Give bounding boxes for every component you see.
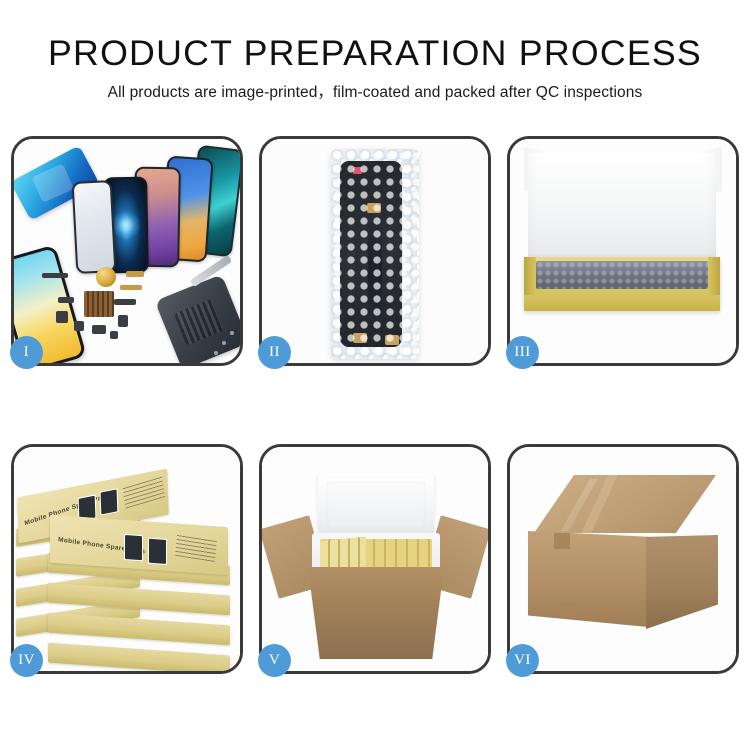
step-badge-1: I <box>10 336 43 369</box>
small-part-7 <box>110 331 118 339</box>
step-badge-2: II <box>258 336 291 369</box>
step-panel-6[interactable]: VI <box>507 444 739 674</box>
step-panel-1[interactable]: I <box>11 136 243 366</box>
box-screen-thumb-4 <box>148 538 167 565</box>
box-stack: Mobile Phone Spare Parts Mobile Phone Sp… <box>16 463 240 663</box>
page-subtitle: All products are image-printed，film-coat… <box>0 83 750 102</box>
red-label-tab <box>353 167 362 174</box>
step-image-6 <box>510 447 736 671</box>
kraft-box-r3 <box>48 613 230 646</box>
glass-protector <box>72 180 117 274</box>
step-image-4: Mobile Phone Spare Parts Mobile Phone Sp… <box>14 447 240 671</box>
step-panel-3[interactable]: III <box>507 136 739 366</box>
small-part-4 <box>92 325 106 334</box>
wrapped-contents <box>536 261 708 289</box>
header: PRODUCT PREPARATION PROCESS All products… <box>0 0 750 102</box>
carton-side-face <box>646 535 718 629</box>
chip-array-part <box>84 291 114 317</box>
box-spec-lines-2 <box>175 534 217 562</box>
small-part-3 <box>74 321 84 331</box>
speaker-part <box>42 273 68 278</box>
flex-cable-gold-2 <box>120 285 142 290</box>
taptic-engine-part <box>96 267 116 287</box>
product-process-page: PRODUCT PREPARATION PROCESS All products… <box>0 0 750 750</box>
foam-lid-open <box>318 473 434 537</box>
step-panel-2[interactable]: II <box>259 136 491 366</box>
flex-cable-strip <box>368 209 382 319</box>
bubble-wrap-bag <box>331 149 419 359</box>
step-image-3 <box>510 139 736 363</box>
connector-right <box>385 335 399 345</box>
connector-top <box>367 203 381 213</box>
box-spec-lines-1 <box>122 476 165 509</box>
screw-3 <box>214 351 218 355</box>
carton-top-face <box>534 475 716 533</box>
carton-front-face <box>528 531 648 627</box>
tray-front-wall <box>524 295 720 311</box>
carton-body-open <box>302 567 450 659</box>
step-badge-4: IV <box>10 644 43 677</box>
flex-cable-gold-1 <box>126 271 144 277</box>
carton-tab-upper <box>554 533 570 549</box>
connector-left <box>353 333 367 343</box>
step-image-5 <box>262 447 488 671</box>
carton-tab-lower <box>560 603 576 617</box>
small-part-1 <box>58 297 74 303</box>
box-screen-thumb-2 <box>100 488 119 515</box>
step-image-2 <box>262 139 488 363</box>
process-grid: I II <box>11 136 739 674</box>
step-badge-6: VI <box>506 644 539 677</box>
step-badge-3: III <box>506 336 539 369</box>
screw-1 <box>222 341 226 345</box>
foam-lid <box>528 153 716 265</box>
step-badge-5: V <box>258 644 291 677</box>
step-panel-4[interactable]: Mobile Phone Spare Parts Mobile Phone Sp… <box>11 444 243 674</box>
box-screen-thumb-3 <box>124 534 143 561</box>
screw-2 <box>230 331 234 335</box>
page-title: PRODUCT PREPARATION PROCESS <box>0 34 750 74</box>
small-part-6 <box>118 315 128 327</box>
step-panel-5[interactable]: V <box>259 444 491 674</box>
small-part-2 <box>56 311 68 323</box>
kraft-tray-box <box>524 257 720 311</box>
sealed-carton <box>528 475 722 627</box>
step-image-1 <box>14 139 240 363</box>
small-part-5 <box>114 299 136 305</box>
